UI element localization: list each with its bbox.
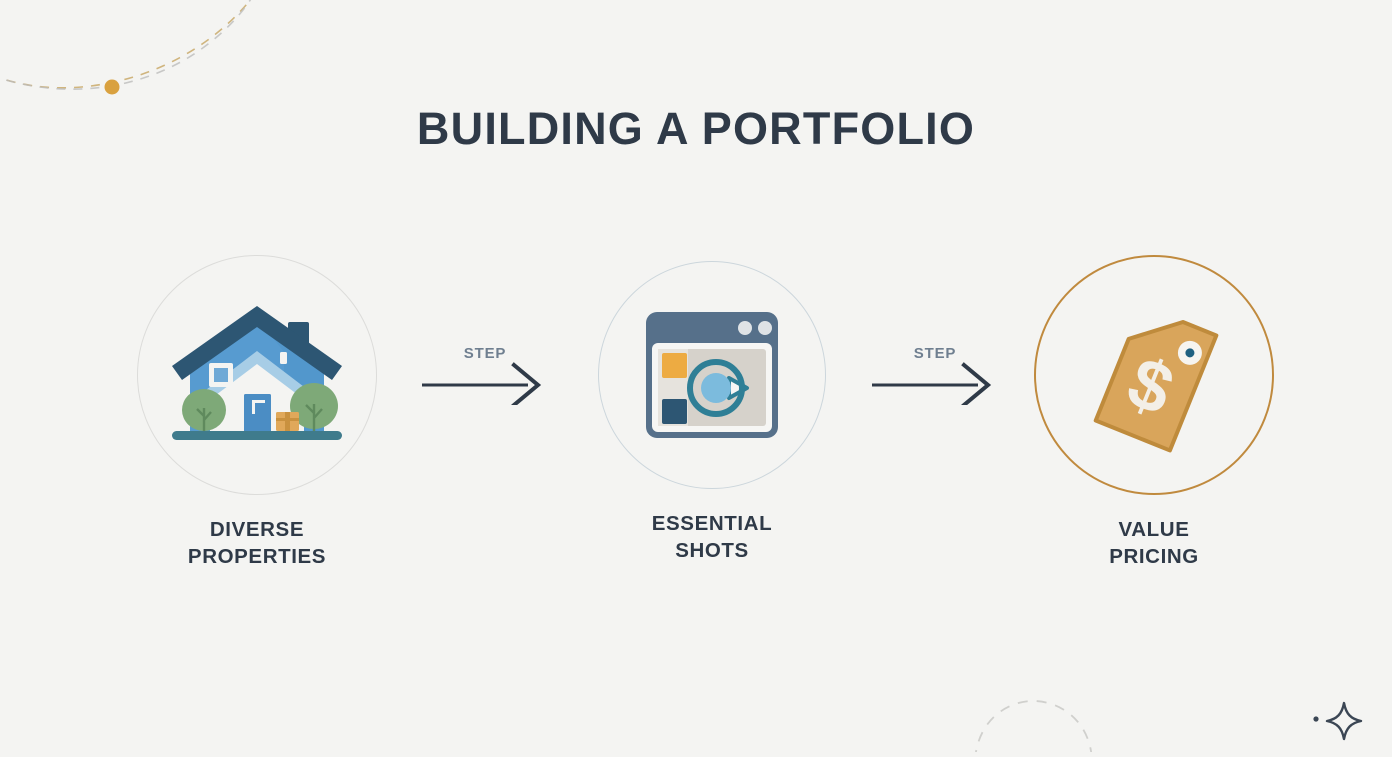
step-icon-circle: $ <box>1034 255 1274 495</box>
step-label: DIVERSE PROPERTIES <box>107 517 407 570</box>
small-dot-icon <box>1313 716 1318 721</box>
price-tag-dollar-icon: $ <box>1069 293 1239 458</box>
step-label-line2: PROPERTIES <box>107 544 407 571</box>
dashed-arc-gold-icon <box>0 0 270 88</box>
step-item-essential-shots[interactable]: ESSENTIAL SHOTS <box>562 255 862 564</box>
connector-label: STEP <box>860 345 1010 362</box>
step-label: ESSENTIAL SHOTS <box>562 511 862 564</box>
steps-row: DIVERSE PROPERTIES <box>0 255 1392 575</box>
step-label-line1: DIVERSE <box>210 518 304 541</box>
step-icon-circle <box>137 255 377 495</box>
step-icon-circle <box>598 261 826 489</box>
step-connector-1: STEP <box>410 345 560 405</box>
dashed-arc-gray-icon <box>0 0 268 89</box>
photo-gallery-window-icon <box>637 300 787 450</box>
step-label-line2: SHOTS <box>562 538 862 565</box>
step-connector-2: STEP <box>860 345 1010 405</box>
step-label-line1: VALUE <box>1119 518 1190 541</box>
step-item-value-pricing[interactable]: $ VALUE PRICING <box>1004 255 1304 570</box>
dashed-arc-bottom-icon <box>975 701 1092 752</box>
sparkle-icon <box>1327 703 1361 739</box>
connector-label: STEP <box>410 345 560 362</box>
gold-dot-icon <box>105 80 120 95</box>
step-item-diverse-properties[interactable]: DIVERSE PROPERTIES <box>107 255 407 570</box>
page-title: BUILDING A PORTFOLIO <box>0 104 1392 154</box>
step-label-line1: ESSENTIAL <box>652 512 772 535</box>
step-label-line2: PRICING <box>1004 544 1304 571</box>
house-icon <box>164 300 350 450</box>
step-label: VALUE PRICING <box>1004 517 1304 570</box>
